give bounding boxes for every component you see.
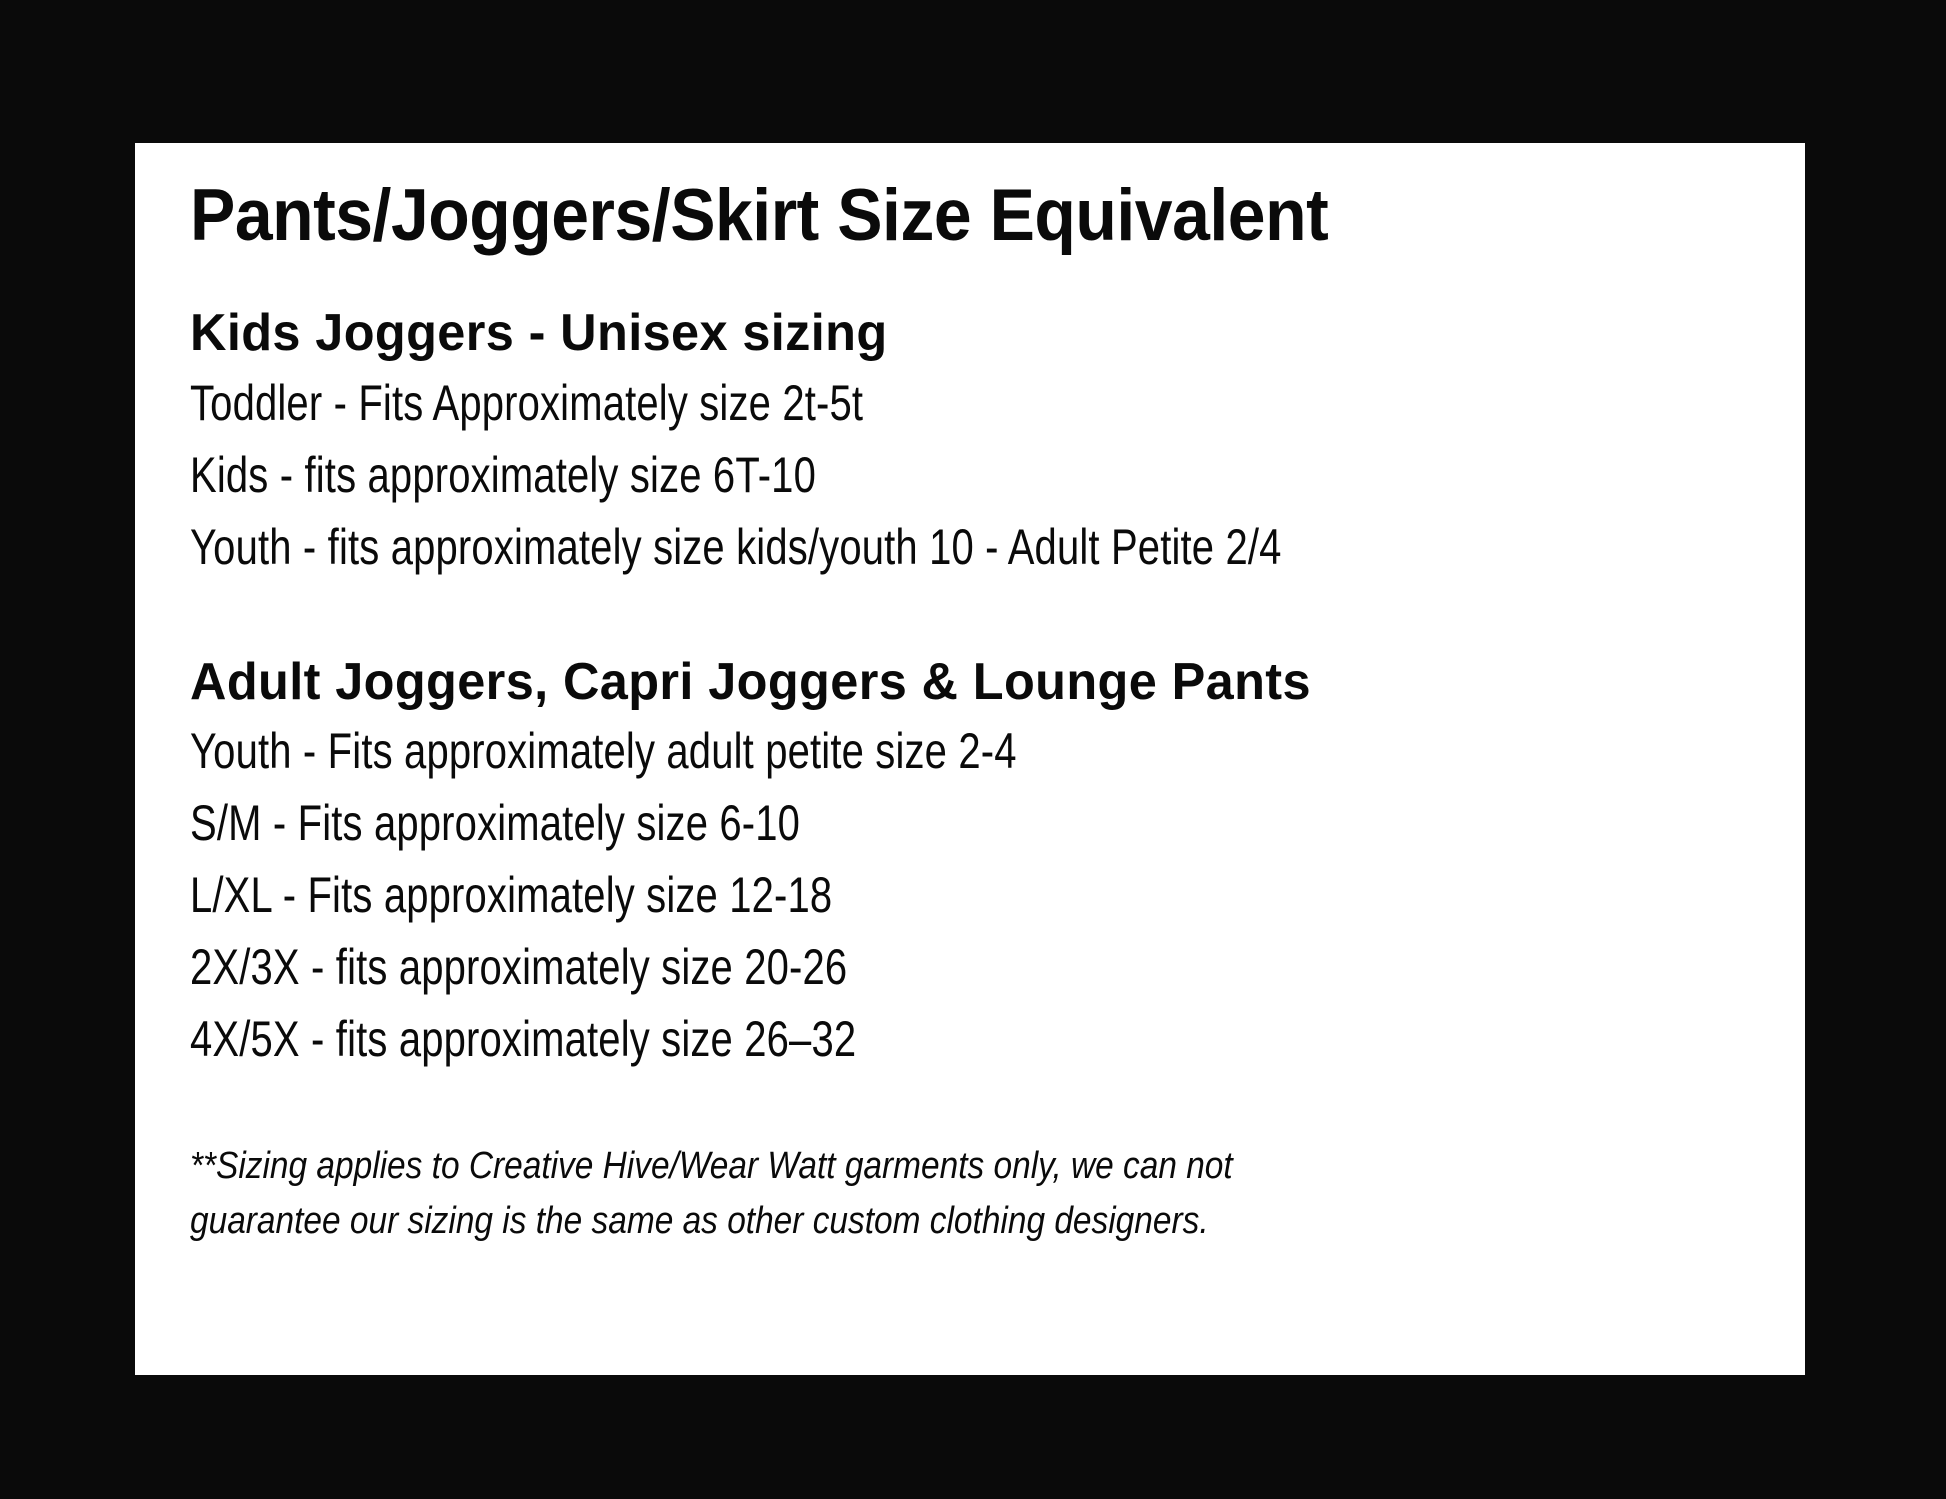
size-line-toddler: Toddler - Fits Approximately size 2t-5t [190,367,1450,439]
size-line-youth: Youth - fits approximately size kids/you… [190,511,1450,583]
page-title: Pants/Joggers/Skirt Size Equivalent [190,143,1655,252]
section-kids-joggers: Kids Joggers - Unisex sizing Toddler - F… [190,306,1765,583]
section-adult-joggers: Adult Joggers, Capri Joggers & Lounge Pa… [190,655,1765,1076]
size-line-adult-youth: Youth - Fits approximately adult petite … [190,715,1450,787]
footnote-line-2: guarantee our sizing is the same as othe… [190,1194,1730,1249]
size-line-kids: Kids - fits approximately size 6T-10 [190,439,1450,511]
size-line-2x3x: 2X/3X - fits approximately size 20-26 [190,931,1450,1003]
footnote: **Sizing applies to Creative Hive/Wear W… [190,1139,1730,1249]
section-heading-adult-joggers: Adult Joggers, Capri Joggers & Lounge Pa… [190,655,1718,710]
card-content: Pants/Joggers/Skirt Size Equivalent Kids… [190,143,1765,1249]
size-line-4x5x: 4X/5X - fits approximately size 26–32 [190,1003,1450,1075]
size-chart-card: Pants/Joggers/Skirt Size Equivalent Kids… [135,143,1805,1375]
section-heading-kids-joggers: Kids Joggers - Unisex sizing [190,306,1718,361]
size-line-lxl: L/XL - Fits approximately size 12-18 [190,859,1450,931]
size-line-sm: S/M - Fits approximately size 6-10 [190,787,1450,859]
footnote-line-1: **Sizing applies to Creative Hive/Wear W… [190,1139,1730,1194]
page-background: Pants/Joggers/Skirt Size Equivalent Kids… [0,0,1946,1499]
